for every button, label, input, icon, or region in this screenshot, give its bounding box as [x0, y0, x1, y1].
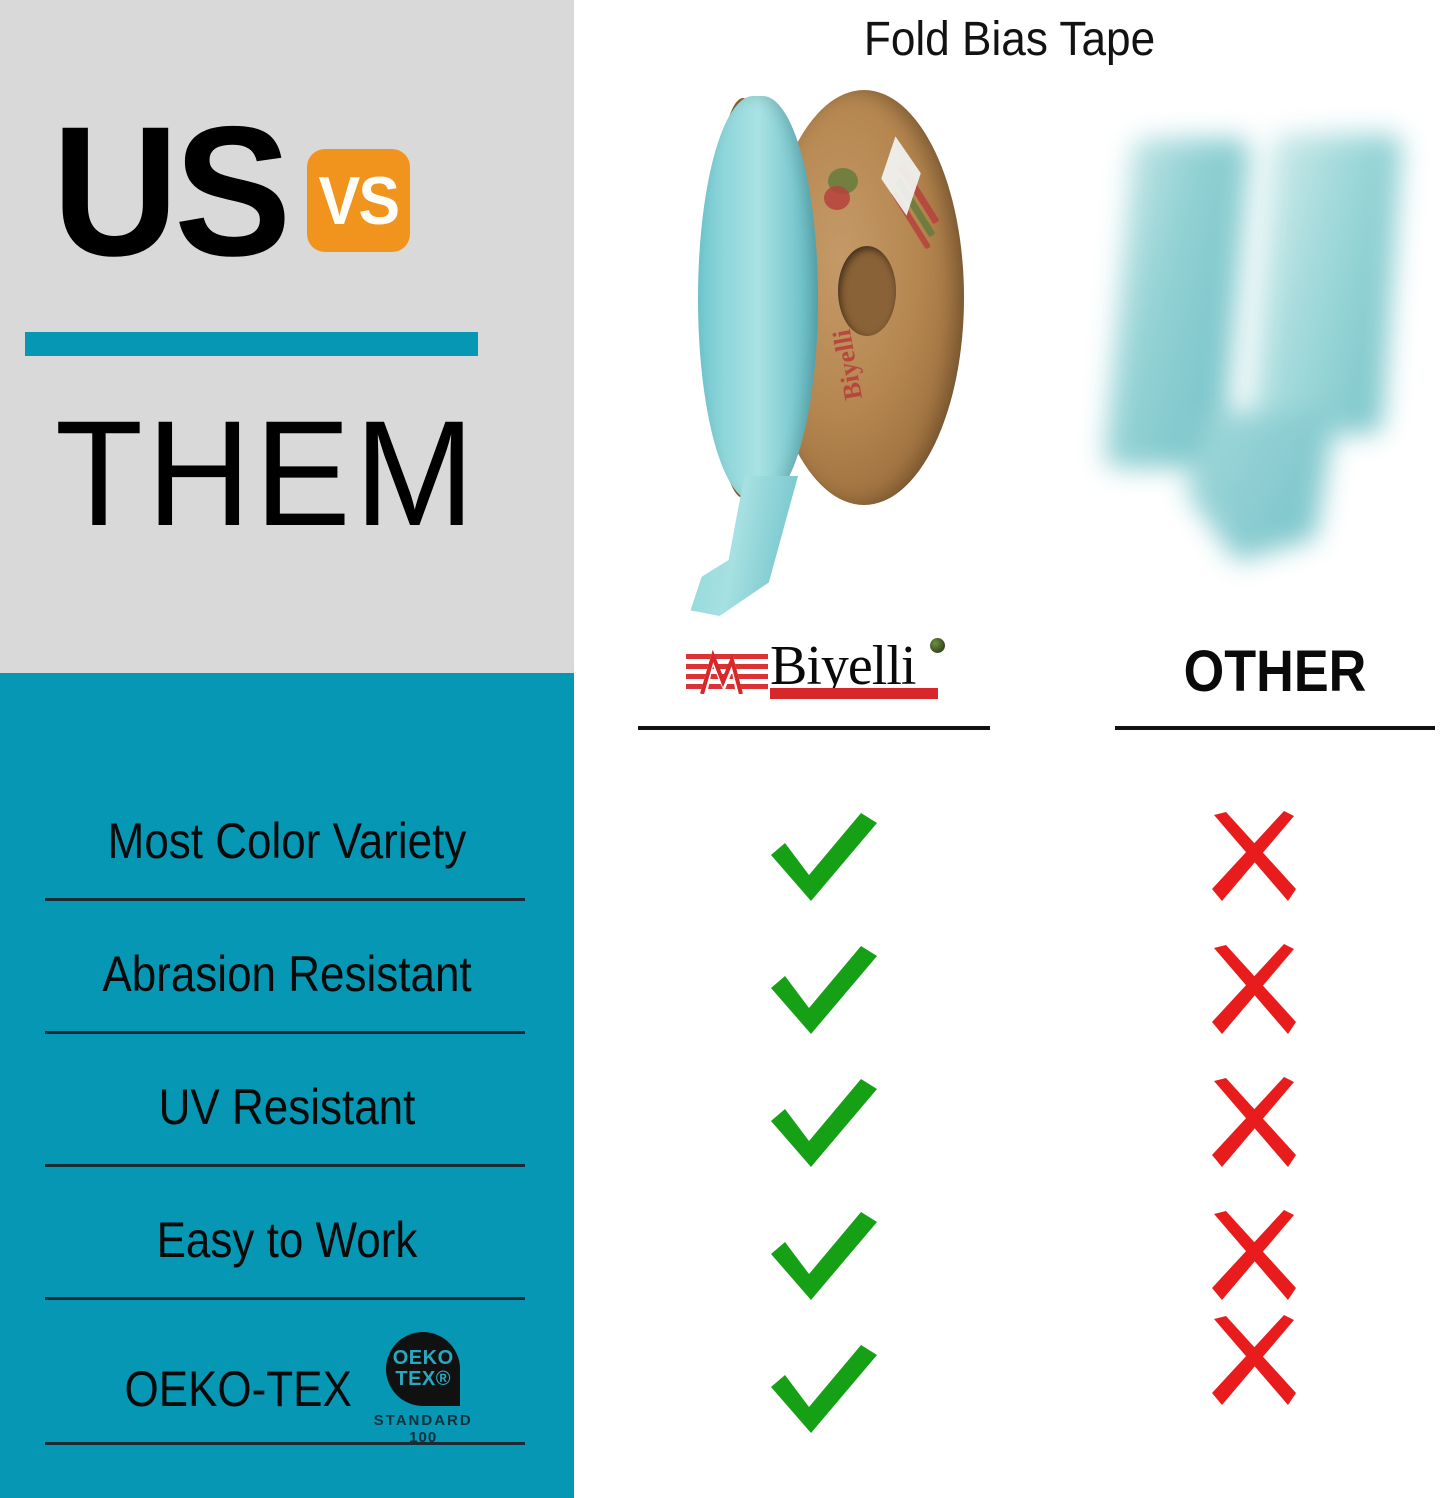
- cross-cell: [1114, 1294, 1394, 1427]
- feature-label: OEKO-TEX: [124, 1360, 351, 1418]
- cross-cell: [1114, 790, 1394, 923]
- check-mark-icon: [765, 1341, 883, 1437]
- them-word: THEM: [55, 398, 478, 548]
- page-title: Fold Bias Tape: [609, 12, 1410, 67]
- check-mark-icon: [765, 942, 883, 1038]
- cross-mark-icon: [1206, 1315, 1302, 1407]
- brand-divider-theirs: [1115, 726, 1435, 730]
- biyelli-wordmark: Biyelli: [770, 638, 915, 694]
- feature-label: UV Resistant: [34, 1078, 539, 1136]
- oeko-standard-label: STANDARD: [374, 1412, 473, 1429]
- cross-cell: [1114, 923, 1394, 1056]
- product-photo-other-blurred: [1090, 120, 1440, 590]
- cross-mark-icon: [1206, 944, 1302, 1036]
- cross-mark-icon: [1206, 811, 1302, 903]
- bias-tape-wound: [698, 96, 818, 501]
- oeko-droplet-icon: OEKO TEX®: [386, 1332, 460, 1406]
- cross-mark-icon: [1206, 1210, 1302, 1302]
- product-photo-biyelli-spool: Biyelli: [676, 86, 976, 606]
- feature-row: Most Color Variety: [0, 790, 574, 923]
- feature-row: UV Resistant: [0, 1056, 574, 1189]
- reel-print-dot: [824, 186, 850, 210]
- biyelli-underline-bar: [770, 688, 938, 699]
- check-mark-icon: [765, 1208, 883, 1304]
- check-cell: [694, 1189, 954, 1322]
- oeko-tex-badge: OEKO TEX® STANDARD 100: [381, 1332, 465, 1447]
- check-cell: [694, 1322, 954, 1455]
- check-cell: [694, 923, 954, 1056]
- feature-row: Abrasion Resistant: [0, 923, 574, 1056]
- blurred-ribbon-shape: [1252, 134, 1403, 434]
- us-word: US: [52, 120, 287, 264]
- oeko-badge-line1: OEKO: [393, 1349, 454, 1369]
- left-panel: US VS THEM Most Color Variety Abrasion R…: [0, 0, 574, 1498]
- feature-row: Easy to Work: [0, 1189, 574, 1322]
- feature-label: Most Color Variety: [34, 812, 539, 870]
- biyelli-logo: Biyelli: [686, 640, 946, 704]
- brand-divider-ours: [638, 726, 990, 730]
- comparison-mark-row: [574, 923, 1445, 1056]
- feature-divider: [45, 1164, 525, 1167]
- feature-label: Easy to Work: [34, 1211, 539, 1269]
- feature-divider: [45, 1031, 525, 1034]
- check-mark-icon: [765, 1075, 883, 1171]
- bias-tape-trailing-end: [686, 476, 798, 616]
- us-vs-heading: US VS: [52, 120, 410, 264]
- feature-divider: [45, 898, 525, 901]
- oeko-badge-line2: TEX®: [395, 1369, 451, 1389]
- reel-center-hole: [838, 246, 896, 336]
- feature-list: Most Color Variety Abrasion Resistant UV…: [0, 790, 574, 1455]
- oeko-tex-row: OEKO-TEX OEKO TEX® STANDARD 100: [0, 1332, 574, 1447]
- check-cell: [694, 790, 954, 923]
- biyelli-registered-dot: [930, 638, 945, 653]
- comparison-mark-row: [574, 790, 1445, 923]
- feature-divider: [45, 1297, 525, 1300]
- blurred-ribbon-shape: [1186, 412, 1336, 562]
- vs-badge-label: VS: [319, 167, 399, 235]
- feature-row-oeko: OEKO-TEX OEKO TEX® STANDARD 100: [0, 1322, 574, 1455]
- comparison-mark-row: [574, 1322, 1445, 1455]
- cross-cell: [1114, 1056, 1394, 1189]
- check-mark-icon: [765, 809, 883, 905]
- feature-label: Abrasion Resistant: [34, 945, 539, 1003]
- check-cell: [694, 1056, 954, 1189]
- comparison-mark-row: [574, 1056, 1445, 1189]
- cross-mark-icon: [1206, 1077, 1302, 1169]
- feature-divider: [45, 1442, 525, 1445]
- biyelli-wave-mark: [686, 650, 768, 694]
- vs-badge: VS: [307, 149, 410, 252]
- header-divider-bar: [25, 332, 478, 356]
- other-brand-label: OTHER: [1131, 638, 1419, 705]
